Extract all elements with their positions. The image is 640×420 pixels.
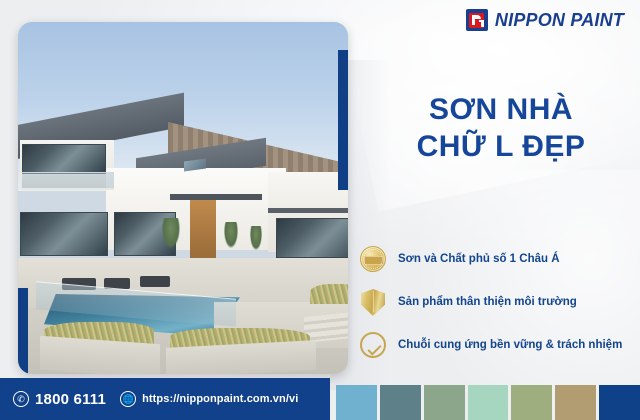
color-swatch-olive-green[interactable] [511, 385, 552, 420]
color-swatch-tan-khaki[interactable] [555, 385, 596, 420]
hero-photo [18, 22, 348, 374]
footer-contact-panel: ✆ 1800 6111 🌐 https://nipponpaint.com.vn… [0, 378, 330, 420]
feature-label: Sản phẩm thân thiện môi trường [398, 296, 577, 310]
brand-logo[interactable]: NIPPON PAINT [466, 9, 624, 31]
phone-circle-icon: ✆ [13, 391, 29, 407]
footer-phone-number: 1800 6111 [35, 391, 106, 408]
photo-accent-bar [338, 50, 348, 190]
gold-seal-icon [360, 246, 388, 274]
color-swatch-mint-green[interactable] [468, 385, 509, 420]
house-photo-illustration [18, 22, 348, 374]
feature-label: Chuỗi cung ứng bền vững & trách nhiệm [398, 339, 622, 353]
footer-phone[interactable]: ✆ 1800 6111 [13, 391, 106, 408]
color-swatch-strip [330, 378, 640, 420]
feature-item: Sơn và Chất phủ số 1 Châu Á [360, 246, 636, 274]
feature-label: Sơn và Chất phủ số 1 Châu Á [398, 253, 560, 267]
feature-item: Sản phẩm thân thiện môi trường [360, 289, 636, 317]
headline-line-1: SƠN NHÀ [429, 93, 573, 126]
feature-item: Chuỗi cung ứng bền vững & trách nhiệm [360, 332, 636, 360]
promo-poster: NIPPON PAINT [0, 0, 640, 420]
brand-logo-text: NIPPON PAINT [495, 10, 624, 31]
headline-line-2: CHỮ L ĐẸP [372, 129, 630, 166]
color-swatch-slate-teal[interactable] [380, 385, 421, 420]
footer-bar: ✆ 1800 6111 🌐 https://nipponpaint.com.vn… [0, 378, 640, 420]
feature-list: Sơn và Chất phủ số 1 Châu Á Sản phẩm thâ… [360, 246, 636, 375]
footer-website[interactable]: 🌐 https://nipponpaint.com.vn/vi [120, 391, 298, 407]
color-swatch-sage-green[interactable] [424, 385, 465, 420]
photo-accent-bar-bottom [18, 288, 28, 374]
color-swatch-deep-blue[interactable] [599, 385, 640, 420]
headline-block: SƠN NHÀ CHỮ L ĐẸP [372, 92, 630, 165]
color-swatch-light-blue[interactable] [336, 385, 377, 420]
gold-check-circle-icon [360, 332, 388, 360]
footer-url: https://nipponpaint.com.vn/vi [142, 393, 298, 405]
page-title: SƠN NHÀ CHỮ L ĐẸP [372, 92, 630, 165]
nippon-paint-n-mark-icon [466, 9, 488, 31]
globe-icon: 🌐 [120, 391, 136, 407]
gold-shield-icon [360, 289, 388, 317]
